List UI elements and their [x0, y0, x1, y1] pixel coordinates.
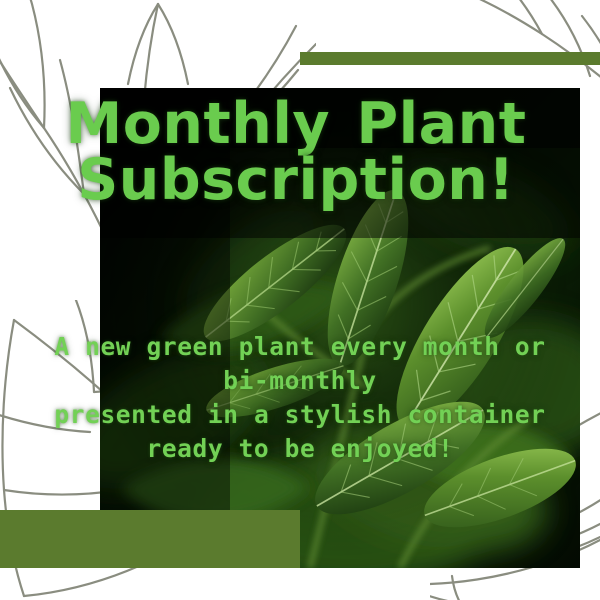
- body-copy-line-2: bi-monthly: [0, 364, 600, 398]
- body-copy-line-4: ready to be enjoyed!: [0, 432, 600, 466]
- olive-accent-bar-top: [300, 52, 600, 65]
- headline-line-2: Subscription!: [0, 152, 592, 208]
- headline-line-1: Monthly Plant: [0, 96, 592, 152]
- poster-canvas: Monthly Plant Subscription! A new green …: [0, 0, 600, 600]
- body-copy-line-3: presented in a stylish container: [0, 398, 600, 432]
- body-copy-line-1: A new green plant every month or: [0, 330, 600, 364]
- page-title: Monthly Plant Subscription!: [0, 96, 592, 209]
- body-copy: A new green plant every month or bi-mont…: [0, 330, 600, 466]
- olive-accent-block-bottom: [0, 510, 300, 568]
